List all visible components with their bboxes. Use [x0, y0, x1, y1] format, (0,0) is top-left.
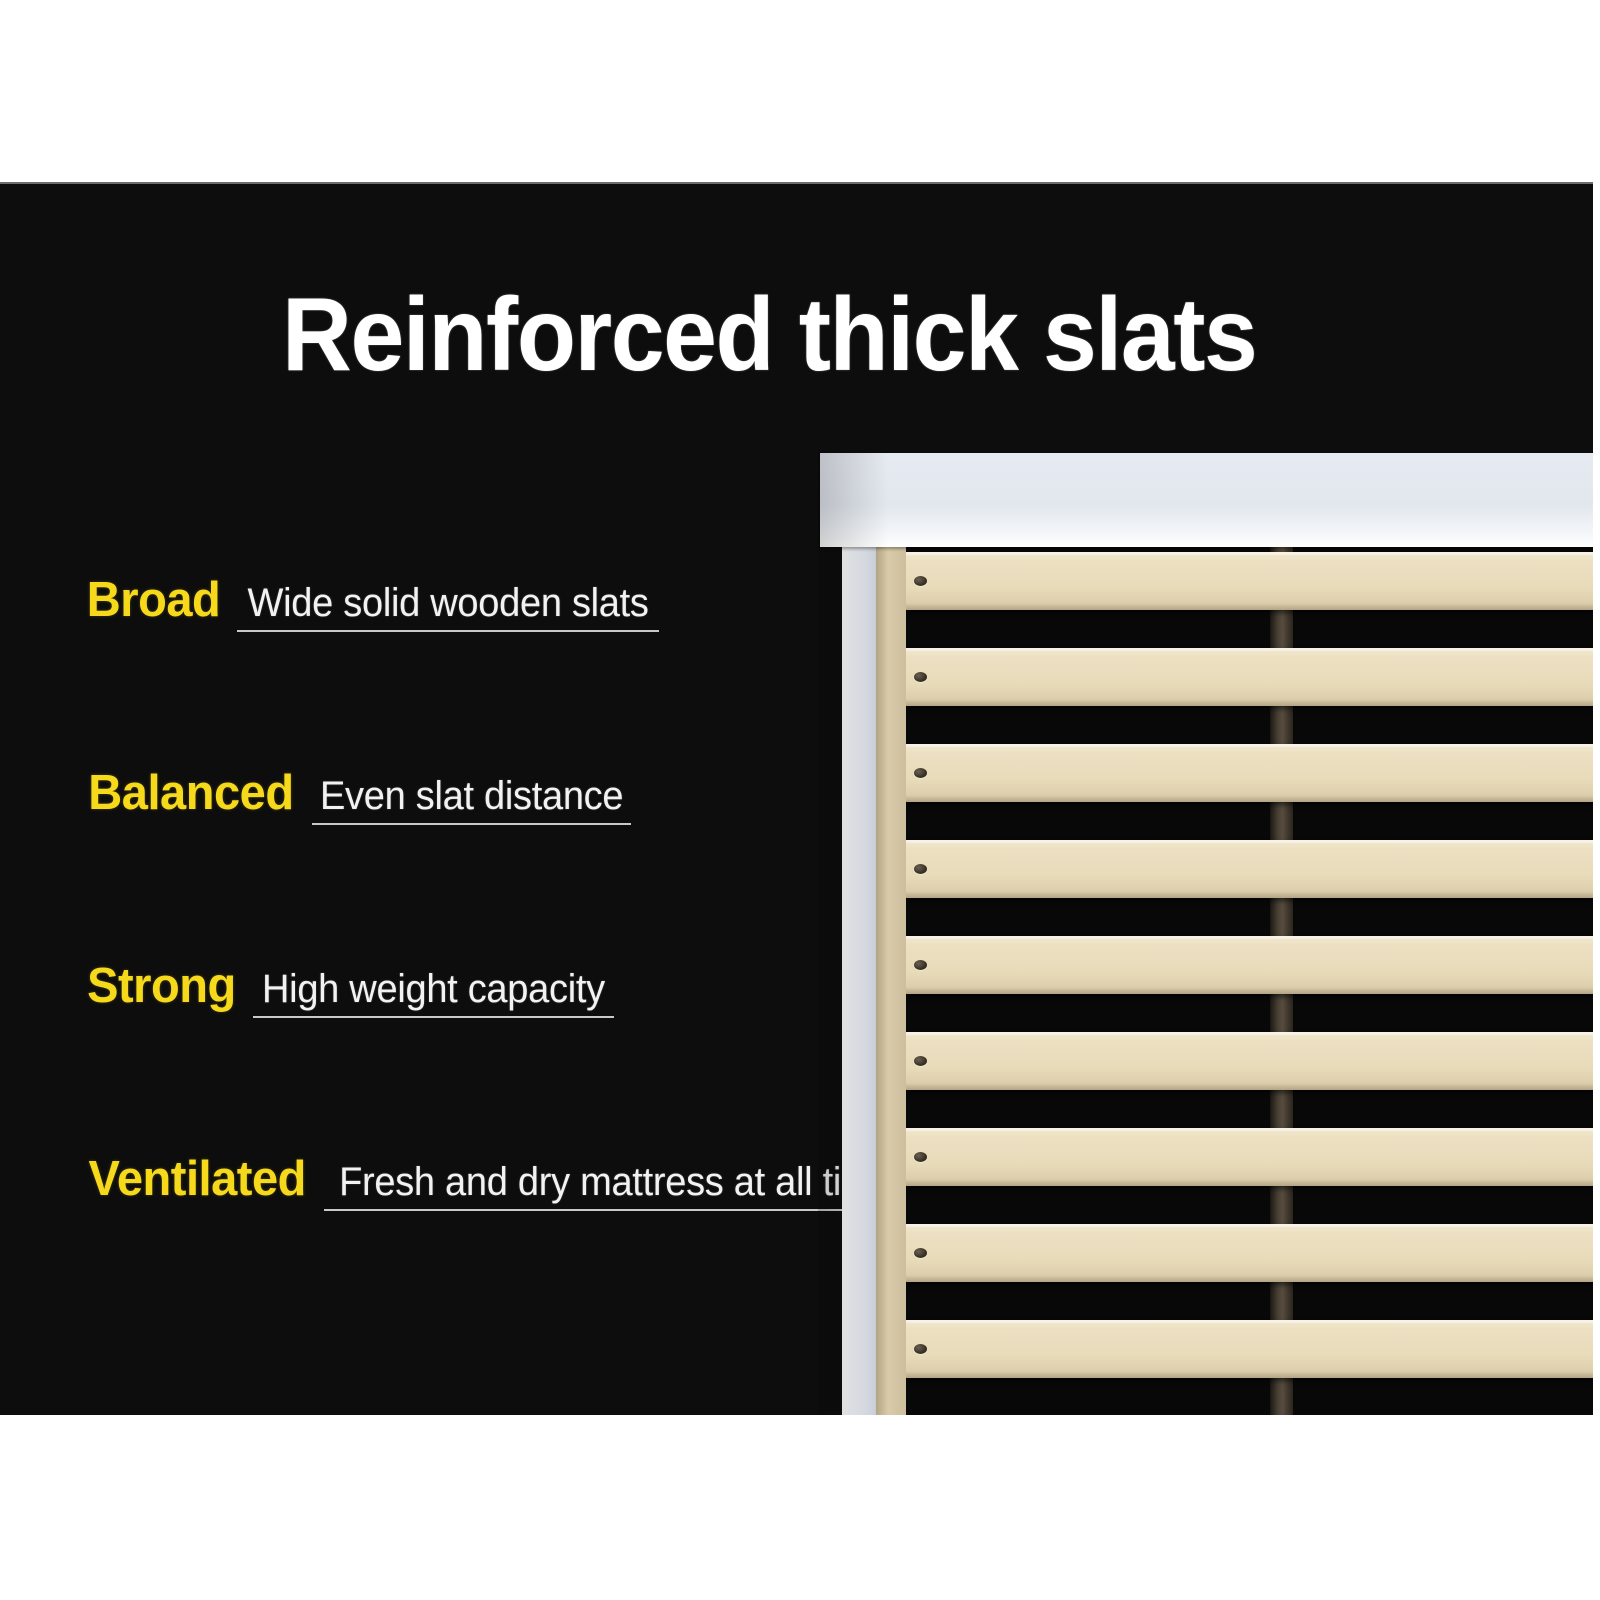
slat-screw [914, 768, 927, 778]
slat-screw [914, 576, 927, 586]
page-title: Reinforced thick slats [282, 282, 1256, 388]
bed-frame-side-rail [842, 544, 876, 1415]
feature-row-strong: Strong High weight capacity [84, 958, 824, 1151]
bed-slats-photo [818, 450, 1593, 1415]
feature-row-ventilated: Ventilated Fresh and dry mattress at all… [84, 1151, 824, 1344]
slat-screw [914, 1152, 927, 1162]
feature-description-underline: Wide solid wooden slats [237, 581, 659, 632]
feature-description-underline: High weight capacity [253, 967, 614, 1018]
wooden-slat [876, 1224, 1593, 1282]
feature-row-balanced: Balanced Even slat distance [84, 765, 824, 958]
feature-description: High weight capacity [262, 967, 605, 1012]
slat-screw [914, 864, 927, 874]
feature-term: Strong [87, 958, 236, 1014]
slat-screw [914, 1248, 927, 1258]
slat-screw [914, 960, 927, 970]
wooden-slat [876, 648, 1593, 706]
slat-stack [876, 534, 1593, 1415]
feature-list: Broad Wide solid wooden slats Balanced E… [84, 572, 824, 1344]
wooden-slat [876, 552, 1593, 610]
wooden-slat [876, 1320, 1593, 1378]
hero-panel: Reinforced thick slats Broad Wide solid … [0, 182, 1593, 1415]
feature-description: Wide solid wooden slats [248, 581, 649, 626]
slat-support-ledge [876, 544, 906, 1415]
feature-term: Ventilated [89, 1151, 306, 1207]
slat-screw [914, 1056, 927, 1066]
feature-description: Even slat distance [320, 774, 623, 819]
product-feature-image: Reinforced thick slats Broad Wide solid … [0, 0, 1600, 1600]
wooden-slat [876, 1032, 1593, 1090]
bed-frame-top-rail [820, 453, 1593, 547]
feature-description-underline: Even slat distance [312, 774, 631, 825]
feature-term: Balanced [88, 765, 293, 821]
feature-term: Broad [87, 572, 221, 628]
wooden-slat [876, 840, 1593, 898]
wooden-slat [876, 936, 1593, 994]
wooden-slat [876, 1128, 1593, 1186]
feature-row-broad: Broad Wide solid wooden slats [84, 572, 824, 765]
slat-screw [914, 672, 927, 682]
slat-screw [914, 1344, 927, 1354]
wooden-slat [876, 744, 1593, 802]
